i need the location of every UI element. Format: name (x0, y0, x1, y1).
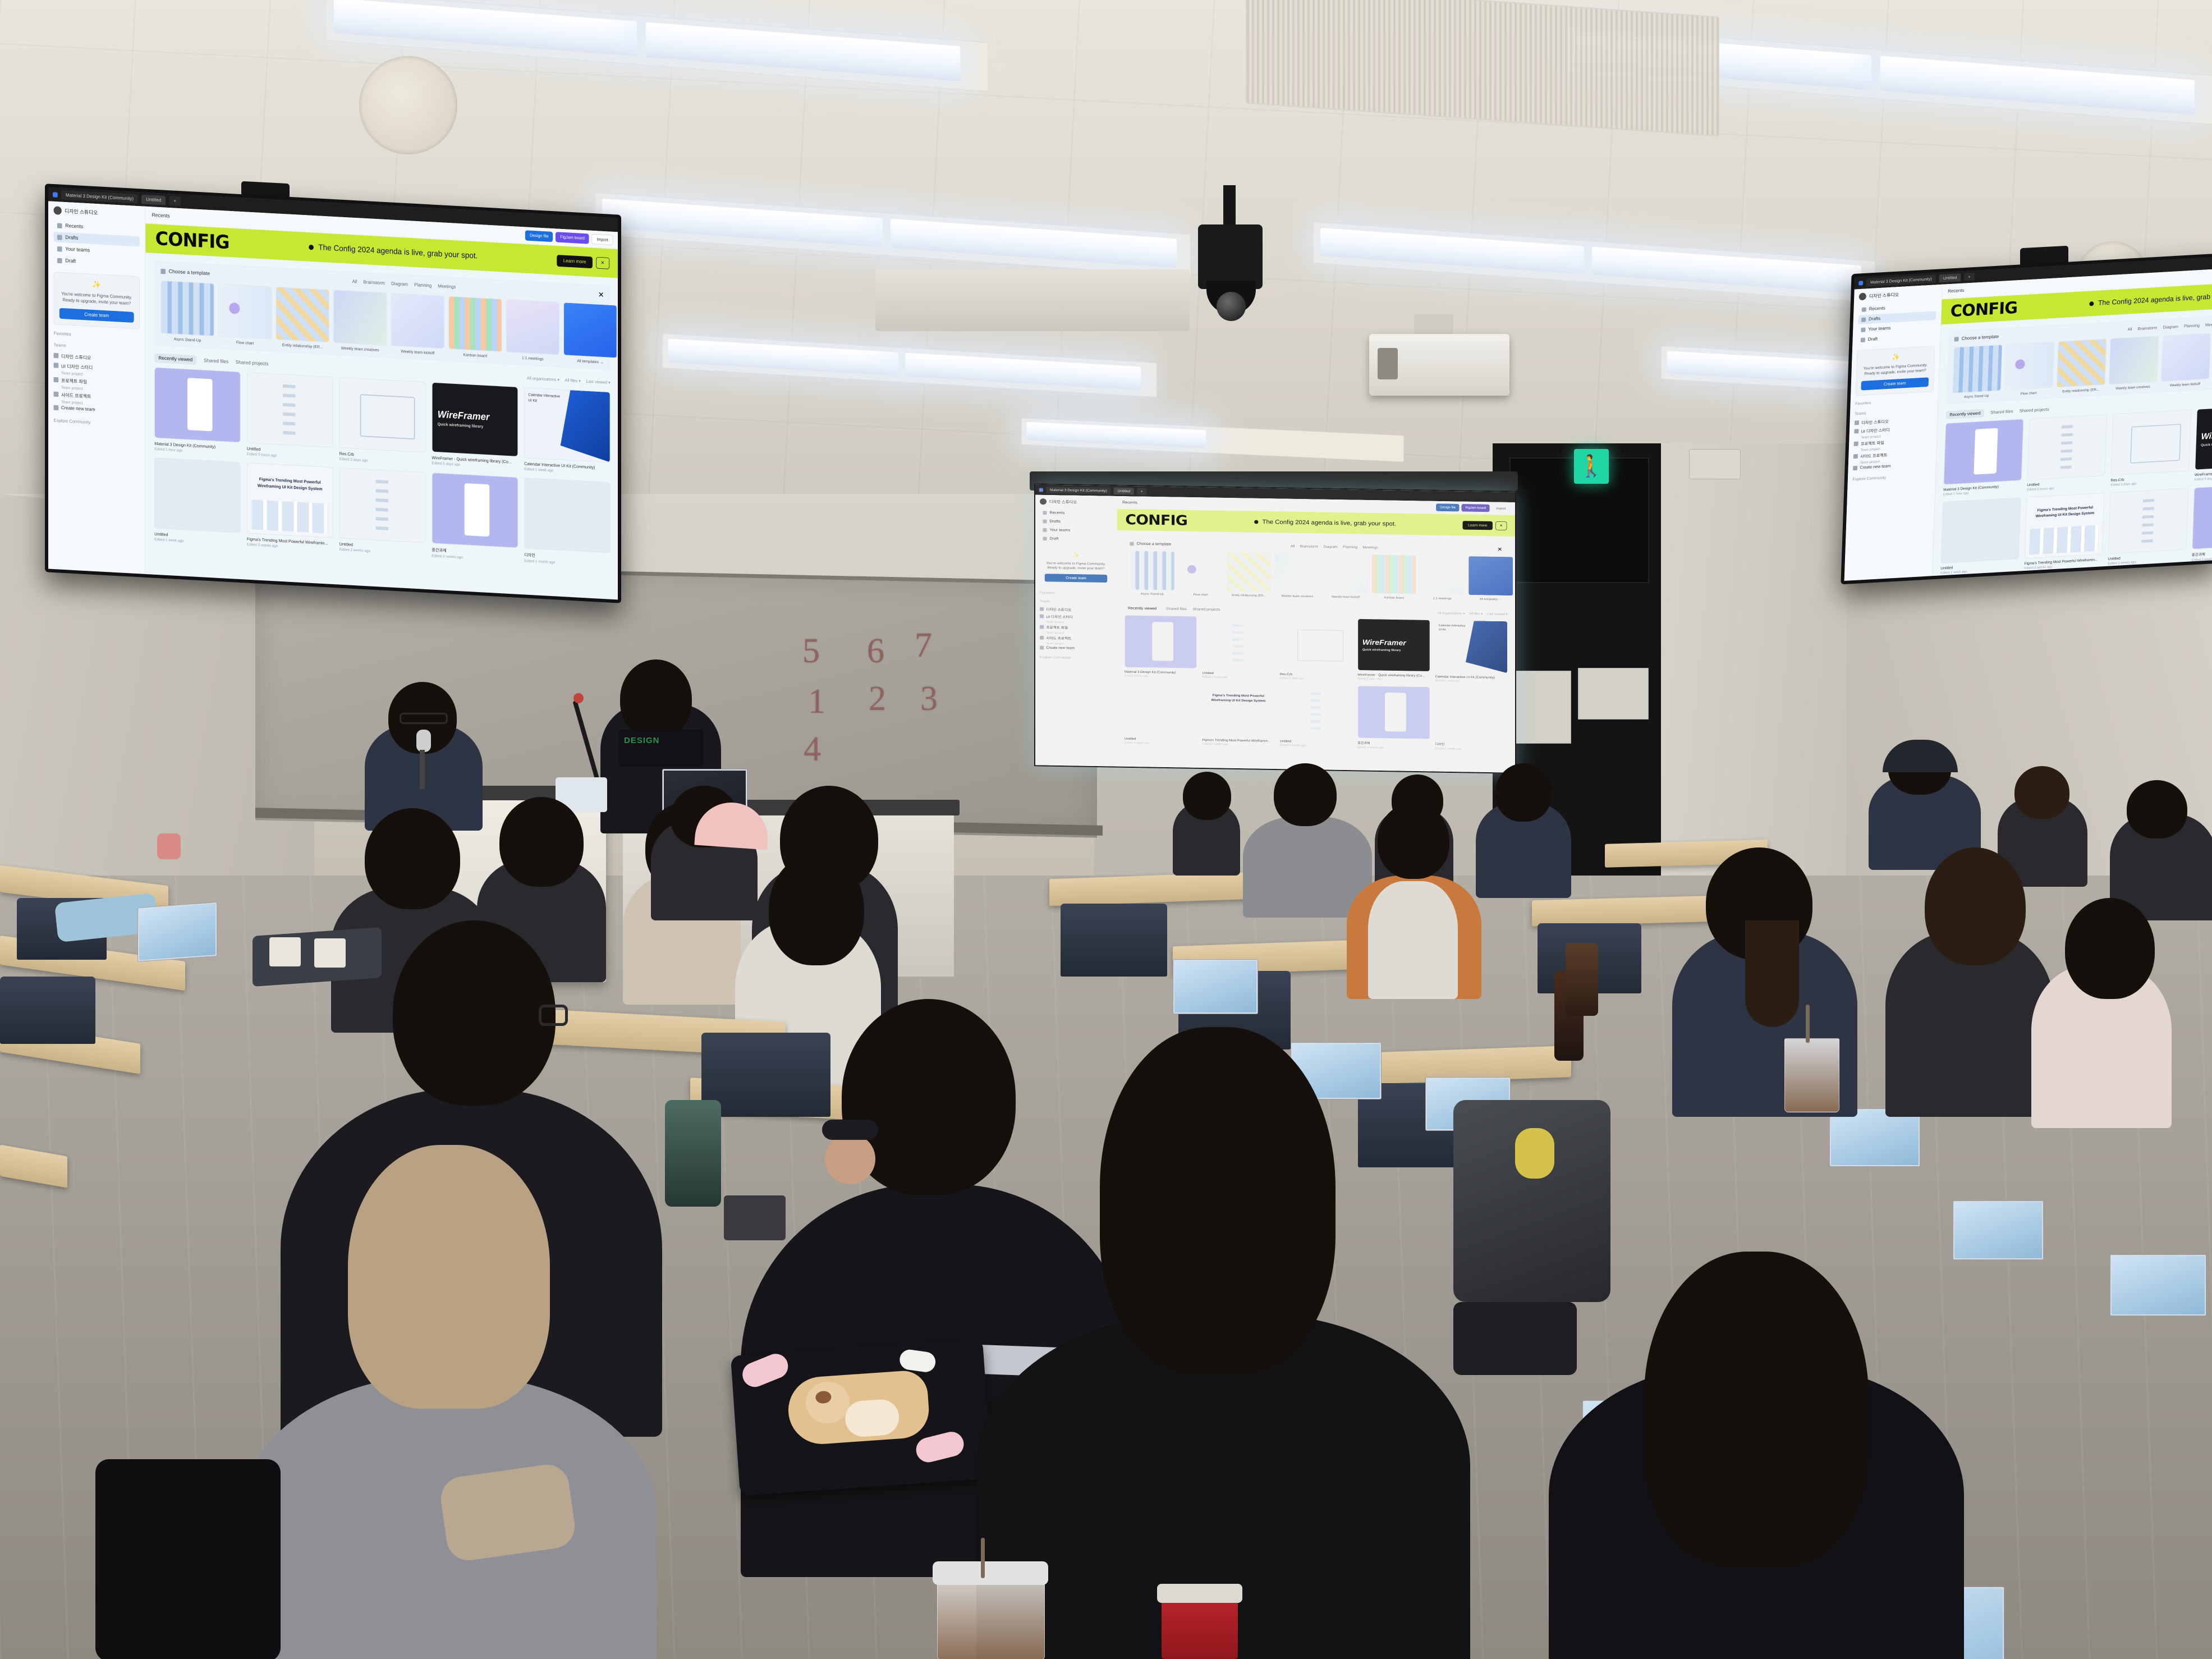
sidebar-item-3[interactable]: Draft (1040, 535, 1112, 544)
shirt-print-text: DESIGN (624, 735, 703, 746)
file-label: UI 디자인 스터디 (61, 362, 93, 370)
template-card-2[interactable]: Entity relationship (ER... (2057, 338, 2107, 393)
file-card[interactable]: UntitledEdited 1 week ago (1125, 682, 1197, 746)
tumbler-bottle[interactable] (665, 1100, 721, 1207)
mobile-mockup (465, 483, 490, 537)
browser-tab[interactable]: Untitled (1939, 273, 1961, 283)
wrist-watch (822, 1120, 878, 1140)
file-card[interactable]: Res.CrbEdited 2 days ago (2110, 410, 2191, 487)
file-label: Create new team (1860, 464, 1890, 470)
file-label: 디자인 스튜디오 (1046, 606, 1071, 612)
file-card[interactable]: UntitledEdited 1 week ago (1940, 497, 2021, 576)
file-icon (1040, 636, 1044, 640)
file-thumbnail: Figma's Trending Most PowerfulWireframin… (247, 462, 333, 538)
create-team-button[interactable]: Create team (1045, 574, 1108, 583)
figma-sidebar: 디자인 스튜디오RecentsDraftsYour teamsDraft✨You… (48, 201, 145, 574)
calendar-line2: UI Kit (1439, 628, 1446, 631)
file-edited: Edited 1 week ago (1125, 741, 1197, 745)
template-card-1[interactable]: Flow chart (218, 283, 272, 346)
template-card-1[interactable]: Flow chart (1178, 551, 1223, 597)
file-card[interactable]: UntitledEdited 3 hours ago (247, 372, 333, 461)
student-head (1495, 763, 1552, 822)
student-head (1925, 847, 2026, 965)
file-icon (1853, 454, 1858, 459)
chair[interactable] (701, 1033, 830, 1117)
student-head (2014, 766, 2069, 819)
template-tab-2[interactable]: Diagram (1323, 545, 1337, 549)
file-label: Create new team (1046, 646, 1075, 650)
file-card[interactable]: Figma's Trending Most PowerfulWireframin… (247, 462, 333, 552)
filter-2[interactable]: Last viewed ▾ (1487, 612, 1507, 616)
bullet-icon (2089, 301, 2094, 306)
template-tab-4[interactable]: Meetings (2205, 322, 2212, 328)
sidebar-item-icon (1043, 519, 1047, 523)
template-name: Kanban board (1371, 595, 1416, 599)
template-name: Entity relationship (ER... (2057, 387, 2105, 393)
close-icon[interactable]: ✕ (1497, 546, 1502, 553)
backpack[interactable] (95, 1459, 281, 1659)
file-icon (54, 405, 59, 410)
file-icon (1854, 441, 1858, 446)
bullet-icon (309, 244, 314, 250)
templates-card: Choose a templateAllBrainstormDiagramPla… (1947, 308, 2212, 405)
template-thumb (1178, 551, 1223, 591)
template-tab-1[interactable]: Brainstorm (2138, 326, 2158, 331)
recents-tab-2[interactable]: Shared projects (236, 359, 268, 366)
microphone-handle (420, 750, 425, 789)
calendar-shape (561, 389, 610, 462)
templates-title-wrap: Choose a template (1954, 334, 1999, 341)
template-card-2[interactable]: Entity relationship (ER... (1227, 552, 1272, 598)
filter-0[interactable]: All organizations ▾ (1438, 611, 1465, 616)
sidebar-item-icon (57, 258, 62, 263)
laptop[interactable] (137, 902, 217, 962)
browser-tab[interactable]: Untitled (1114, 488, 1134, 495)
template-tab-2[interactable]: Diagram (2163, 324, 2178, 329)
calendar-line1: Calendar Interactive (1439, 624, 1466, 627)
air-conditioner-unit (875, 269, 1190, 331)
whiteboard-number: 7 (915, 626, 932, 666)
template-card-5[interactable]: Kanban board (1371, 554, 1416, 600)
banner-actions: Learn more✕ (1463, 521, 1507, 530)
file-thumbnail: Calendar InteractiveUI Kit (524, 387, 611, 462)
filters: All organizations ▾All files ▾Last viewe… (1438, 611, 1508, 616)
file-card[interactable]: WireFramerQuick wireframing libraryWireF… (1357, 618, 1430, 682)
file-card[interactable]: UntitledEdited 1 week ago (154, 457, 241, 547)
new-tab-button[interactable]: + (1137, 488, 1146, 495)
template-thumb (1323, 553, 1368, 593)
sidebar-item-label: Draft (1868, 337, 1878, 342)
file-card[interactable]: Calendar InteractiveUI KitCalendar Inter… (524, 387, 611, 476)
template-thumb (2057, 338, 2107, 387)
template-thumb (276, 287, 329, 343)
trending-line1: Figma's Trending Most Powerful (1206, 693, 1270, 698)
file-card[interactable]: Res.CrbEdited 2 days ago (1280, 617, 1352, 681)
template-tabs: AllBrainstormDiagramPlanningMeetings (1291, 544, 1378, 549)
wire-blocks (2060, 425, 2073, 470)
account-switcher[interactable]: 디자인 스튜디오 (54, 206, 140, 219)
template-tab-1[interactable]: Brainstorm (363, 279, 384, 286)
mobile-mockup (1152, 622, 1173, 661)
sidebar-file-4[interactable]: Create new team (1040, 645, 1112, 652)
file-card[interactable]: WireFramerQuick wireframing libraryWireF… (2194, 405, 2212, 482)
whiteboard-number: 1 (808, 682, 825, 722)
sidebar-item-label: Drafts (1049, 519, 1061, 524)
file-icon (54, 391, 59, 397)
sidebar-item-label: Recents (1869, 306, 1885, 311)
file-thumbnail (1435, 687, 1508, 741)
explore-community[interactable]: Explore Community (54, 418, 140, 428)
calendar-shape (1466, 621, 1507, 673)
template-tab-3[interactable]: Planning (2184, 323, 2200, 329)
figma-sidebar: 디자인 스튜디오RecentsDraftsYour teamsDraft✨You… (1035, 495, 1117, 769)
file-card[interactable]: 중간과제Edited 3 weeks ago (1357, 686, 1430, 750)
sidebar-item-0[interactable]: Recents (1040, 508, 1112, 517)
recents-tab-1[interactable]: Shared files (204, 358, 228, 364)
template-tab-4[interactable]: Meetings (438, 283, 456, 290)
file-thumbnail (1944, 419, 2024, 484)
running-man-icon: 🚶 (1578, 456, 1604, 477)
breadcrumb: Recents (1122, 501, 1137, 505)
power-socket-icon (269, 937, 301, 966)
figma-main: RecentsDesign fileFigJam boardImportCONF… (145, 207, 619, 600)
mobile-mockup (187, 378, 213, 431)
whiteboard-number: 3 (920, 679, 938, 719)
sidebar-item-icon (1043, 528, 1047, 532)
files-grid: Material 3 Design Kit (Community)Edited … (1940, 400, 2212, 576)
template-thumb (1227, 552, 1272, 592)
figma-sidebar: 디자인 스튜디오RecentsDraftsYour teamsDraft✨You… (1843, 285, 1943, 585)
template-card-7[interactable]: All templates → (1468, 556, 1513, 601)
template-name: Flow chart (218, 339, 272, 346)
template-card-0[interactable]: Async Stand-Up (1952, 345, 2003, 400)
browser-tab[interactable]: Untitled (141, 195, 166, 205)
template-card-5[interactable]: Kanban board (448, 296, 502, 359)
template-tab-3[interactable]: Planning (1343, 545, 1357, 549)
can-lid (1157, 1584, 1242, 1603)
file-card[interactable]: Material 3 Design Kit (Community)Edited … (154, 367, 241, 456)
wire-blocks (1310, 693, 1321, 731)
file-card[interactable]: Material 3 Design Kit (Community)Edited … (1943, 419, 2024, 496)
template-name: 1:1 meetings (1420, 596, 1465, 600)
laptop-sleeve[interactable] (731, 1339, 992, 1496)
figma-logo-icon (1039, 488, 1043, 492)
topbar-button-1[interactable]: FigJam board (1462, 504, 1490, 512)
template-card-6[interactable]: 1:1 meetings (1420, 555, 1465, 601)
template-card-1[interactable]: Flow chart (2004, 342, 2055, 397)
template-tab-0[interactable]: All (1291, 544, 1295, 548)
sparkle-icon: ✨ (1862, 351, 1930, 363)
whiteboard-number: 4 (804, 730, 821, 769)
exit-sign: 🚶 (1574, 449, 1609, 484)
foreground-student-head (393, 920, 556, 1106)
file-card[interactable]: 중간과제Edited 3 weeks ago (2191, 483, 2212, 562)
recents-tab-2[interactable]: Shared projects (1192, 607, 1220, 612)
figma-content: Choose a templateAllBrainstormDiagramPla… (1117, 530, 1515, 757)
topbar-buttons: Design fileFigJam boardImport (1436, 503, 1509, 512)
trending-ui-blocks (1206, 711, 1270, 734)
template-name: Weekly team creatives (2109, 384, 2158, 391)
file-icon (1040, 607, 1044, 611)
filter-0[interactable]: All organizations ▾ (527, 375, 559, 382)
file-card[interactable]: Figma's Trending Most PowerfulWireframin… (1202, 683, 1274, 748)
template-card-6[interactable]: 1:1 meetings (506, 299, 559, 362)
new-tab-button[interactable]: + (169, 196, 181, 206)
wireframer-title: WireFramer (1362, 638, 1425, 648)
recents-tab-0[interactable]: Recently viewed (1125, 604, 1160, 612)
drink-bottle[interactable] (1566, 943, 1598, 1016)
file-card[interactable]: Figma's Trending Most PowerfulWireframin… (2024, 493, 2105, 571)
file-edited: Edited 1 hour ago (1125, 674, 1197, 679)
template-thumb (1275, 553, 1320, 593)
student-head (2065, 898, 2155, 999)
file-edited: Edited 1 week ago (1435, 679, 1508, 684)
phone-device[interactable] (724, 1195, 786, 1240)
laptop[interactable] (1953, 1200, 2044, 1260)
desk (1532, 896, 1717, 927)
file-icon (54, 363, 59, 368)
file-card[interactable]: UntitledEdited 2 weeks ago (2108, 488, 2188, 567)
avatar (1859, 293, 1866, 301)
projector-mount (1414, 314, 1453, 337)
file-icon (1855, 420, 1859, 425)
account-switcher[interactable]: 디자인 스튜디오 (1040, 498, 1112, 506)
file-card[interactable]: UntitledEdited 3 hours ago (1202, 616, 1274, 680)
file-icon (1040, 625, 1044, 629)
left-tv-display[interactable]: Material 3 Design Kit (Community)Untitle… (45, 184, 621, 603)
figma-main: RecentsDesign fileFigJam boardImportCONF… (1117, 496, 1515, 774)
file-label: 디자인 스튜디오 (1861, 418, 1889, 425)
file-icon (1854, 429, 1858, 433)
smoke-detector-icon (359, 56, 457, 154)
whiteboard-number: 6 (867, 631, 884, 671)
breadcrumb: Recents (1948, 288, 1964, 294)
file-icon (1040, 645, 1044, 649)
file-card[interactable]: 중간과제Edited 3 weeks ago (432, 473, 518, 562)
file-card[interactable]: UntitledEdited 2 weeks ago (1280, 684, 1352, 749)
template-thumb (1952, 345, 2002, 393)
file-thumbnail (432, 473, 518, 548)
create-team-button[interactable]: Create team (59, 308, 134, 322)
template-card-2[interactable]: Entity relationship (ER... (276, 287, 329, 350)
student-inner-shirt (1368, 881, 1458, 999)
account-switcher[interactable]: 디자인 스튜디오 (1859, 289, 1937, 301)
template-thumb (563, 302, 617, 358)
sidebar-item-2[interactable]: Your teams (1040, 526, 1112, 535)
close-icon[interactable]: ✕ (598, 290, 604, 300)
file-thumbnail (2192, 483, 2212, 549)
keychain-charm-icon (1515, 1128, 1554, 1179)
new-tab-button[interactable]: + (1964, 273, 1975, 281)
filters: All organizations ▾All files ▾Last viewe… (527, 375, 611, 385)
templates-title: Choose a template (169, 269, 210, 277)
template-thumb (160, 281, 214, 337)
glasses-icon (400, 713, 448, 724)
power-socket-icon (314, 938, 346, 968)
sidebar-item-1[interactable]: Drafts (1040, 517, 1112, 526)
explore-community[interactable]: Explore Community (1040, 656, 1112, 661)
account-name: 디자인 스튜디오 (65, 207, 98, 216)
template-tab-2[interactable]: Diagram (391, 281, 408, 287)
laptop[interactable] (1829, 1108, 1920, 1167)
template-card-3[interactable]: Weekly team creatives (333, 290, 387, 352)
filter-1[interactable]: All files ▾ (565, 378, 581, 384)
explore-community[interactable]: Explore Community (1852, 473, 1930, 482)
laptop[interactable] (1173, 959, 1258, 1014)
avatar (54, 206, 62, 215)
file-label: 사이드 프로젝트 (61, 391, 91, 399)
files-grid: Material 3 Design Kit (Community)Edited … (1125, 615, 1508, 751)
filter-2[interactable]: Last viewed ▾ (586, 379, 610, 385)
template-card-0[interactable]: Async Stand-Up (160, 281, 214, 343)
whiteboard-number: 5 (802, 631, 820, 671)
chair[interactable] (0, 977, 95, 1044)
template-tab-0[interactable]: All (2127, 327, 2132, 332)
template-thumb (2161, 333, 2211, 382)
cup-lid (933, 1561, 1048, 1585)
template-name: Kanban board (448, 351, 502, 359)
template-tab-3[interactable]: Planning (414, 282, 432, 288)
banner-actions: Learn more✕ (557, 255, 609, 269)
config-logo: CONFIG (1950, 299, 2018, 321)
file-thumbnail (2108, 488, 2188, 554)
create-team-button[interactable]: Create team (1861, 377, 1929, 390)
recents-tab-1[interactable]: Shared files (1990, 409, 2013, 415)
template-card-3[interactable]: Weekly team creatives (1275, 553, 1320, 598)
avatar (1040, 498, 1047, 505)
template-row: Async Stand-UpFlow chartEntity relations… (1130, 551, 1502, 601)
file-name: 중간과제 (1357, 740, 1430, 746)
recents-tab-1[interactable]: Shared files (1166, 607, 1187, 611)
filter-1[interactable]: All files ▾ (1469, 612, 1483, 616)
chair[interactable] (1061, 904, 1167, 977)
template-tab-1[interactable]: Brainstorm (1300, 544, 1318, 548)
figma-main: RecentsDesign fileFigJam boardImportCONF… (1931, 260, 2212, 584)
config-logo: CONFIG (155, 228, 230, 253)
student-head (1274, 763, 1337, 826)
file-thumbnail (247, 372, 333, 447)
favorites-title: Favorites (1040, 591, 1112, 596)
right-tv-display[interactable]: Material 3 Design Kit (Community)Untitle… (1841, 253, 2212, 585)
templates-title: Choose a template (1136, 542, 1171, 546)
bag[interactable] (1453, 1302, 1577, 1375)
template-name: Async Stand-Up (1952, 393, 2001, 400)
wireframer-title: WireFramer (2201, 428, 2212, 442)
topbar-button-0[interactable]: Design file (1436, 503, 1459, 511)
sidebar-item-icon (1043, 537, 1047, 540)
file-thumbnail: Figma's Trending Most PowerfulWireframin… (1202, 683, 1274, 737)
topbar-button-2[interactable]: Import (1492, 505, 1510, 512)
teams-title: Teams (1040, 599, 1112, 604)
template-card-7[interactable]: All templates → (563, 302, 617, 365)
close-icon[interactable]: ✕ (1495, 521, 1507, 530)
recents-tab-2[interactable]: Shared projects (2020, 407, 2049, 414)
sidebar-item-icon (1862, 307, 1866, 311)
file-card[interactable]: WireFramerQuick wireframing libraryWireF… (432, 382, 518, 471)
wire-blocks (283, 384, 296, 437)
template-tab-0[interactable]: All (352, 279, 357, 285)
bullet-icon (1254, 520, 1258, 524)
promo-card: ✨You're welcome to Figma Community. Read… (54, 272, 140, 329)
close-icon[interactable]: ✕ (596, 256, 609, 269)
sidebar-item-icon (57, 235, 62, 240)
template-card-4[interactable]: Weekly team kickoff (2160, 333, 2211, 388)
file-label: Create new team (61, 405, 95, 412)
promo-body: You're welcome to Figma Community. Ready… (1045, 561, 1108, 571)
browser-tab[interactable]: Material 3 Design Kit (Community) (61, 190, 138, 204)
recents-tab-0[interactable]: Recently viewed (1946, 409, 1985, 419)
file-card[interactable]: Calendar InteractiveUI KitCalendar Inter… (1435, 620, 1508, 683)
learn-more-button[interactable]: Learn more (1463, 521, 1493, 530)
template-name: 1:1 meetings (506, 355, 559, 362)
sidebar-item-icon (1861, 337, 1865, 342)
template-card-3[interactable]: Weekly team creatives (2109, 336, 2159, 391)
sidebar-item-icon (1861, 317, 1866, 322)
file-label: 프로젝트 파일 (1861, 439, 1884, 446)
topbar-button-0[interactable]: Design file (525, 230, 553, 242)
browser-tab[interactable]: Material 3 Design Kit (Community) (1046, 487, 1110, 494)
student-head (499, 797, 584, 887)
topbar-button-2[interactable]: Import (592, 234, 613, 245)
file-label: 사이드 프로젝트 (1860, 451, 1888, 459)
learn-more-button[interactable]: Learn more (557, 255, 593, 268)
file-card[interactable]: Res.CrbEdited 2 days ago (339, 377, 426, 466)
file-thumbnail: WireFramerQuick wireframing library (1357, 618, 1430, 671)
file-card[interactable]: 디자인Edited 1 month ago (524, 478, 611, 567)
file-card[interactable]: 디자인Edited 1 month ago (1435, 687, 1508, 751)
template-thumb (1371, 554, 1416, 594)
trending-ui-blocks (252, 499, 328, 533)
file-thumbnail (1357, 686, 1430, 740)
template-name: Entity relationship (ER... (1227, 593, 1272, 597)
file-thumbnail (1202, 616, 1274, 670)
file-label: UI 디자인 스터디 (1861, 426, 1890, 434)
file-icon (1040, 614, 1044, 618)
figjam-icon (1954, 337, 1959, 341)
template-card-4[interactable]: Weekly team kickoff (391, 293, 444, 356)
recents-tab-0[interactable]: Recently viewed (154, 353, 196, 365)
figma-app-body: 디자인 스튜디오RecentsDraftsYour teamsDraft✨You… (48, 201, 619, 600)
file-label: 사이드 프로젝트 (1046, 635, 1071, 640)
student-head (365, 808, 460, 909)
templates-card: Choose a templateAllBrainstormDiagramPla… (1125, 536, 1508, 605)
ponytail (1745, 920, 1799, 1027)
file-edited: Edited 5 days ago (1357, 677, 1430, 681)
figma-logo-icon (53, 192, 58, 198)
foreground-student-head (1644, 1252, 1869, 1566)
projector-lens-icon (1378, 348, 1398, 379)
topbar-button-1[interactable]: FigJam board (556, 232, 589, 244)
template-card-0[interactable]: Async Stand-Up (1130, 551, 1174, 596)
sidebar-item-icon (57, 246, 62, 252)
file-card[interactable]: UntitledEdited 3 hours ago (2027, 414, 2108, 492)
calendar-line1: Calendar Interactive (528, 392, 560, 398)
iced-drink-cup[interactable] (1784, 1038, 1839, 1112)
template-tab-4[interactable]: Meetings (1362, 546, 1378, 549)
laptop[interactable] (2110, 1254, 2206, 1316)
file-card[interactable]: Material 3 Design Kit (Community)Edited … (1125, 615, 1197, 679)
sidebar-item-label: Draft (65, 258, 76, 264)
wire-blocks (1233, 624, 1243, 662)
file-label: 프로젝트 파일 (61, 377, 87, 385)
template-card-4[interactable]: Weekly team kickoff (1323, 553, 1368, 599)
template-name: Weekly team kickoff (1323, 595, 1368, 599)
file-card[interactable]: UntitledEdited 2 weeks ago (339, 468, 426, 557)
wall-poster (1515, 671, 1571, 744)
ceiling-camera (1198, 224, 1263, 289)
file-thumbnail (1125, 615, 1197, 669)
file-thumbnail (1280, 617, 1352, 671)
